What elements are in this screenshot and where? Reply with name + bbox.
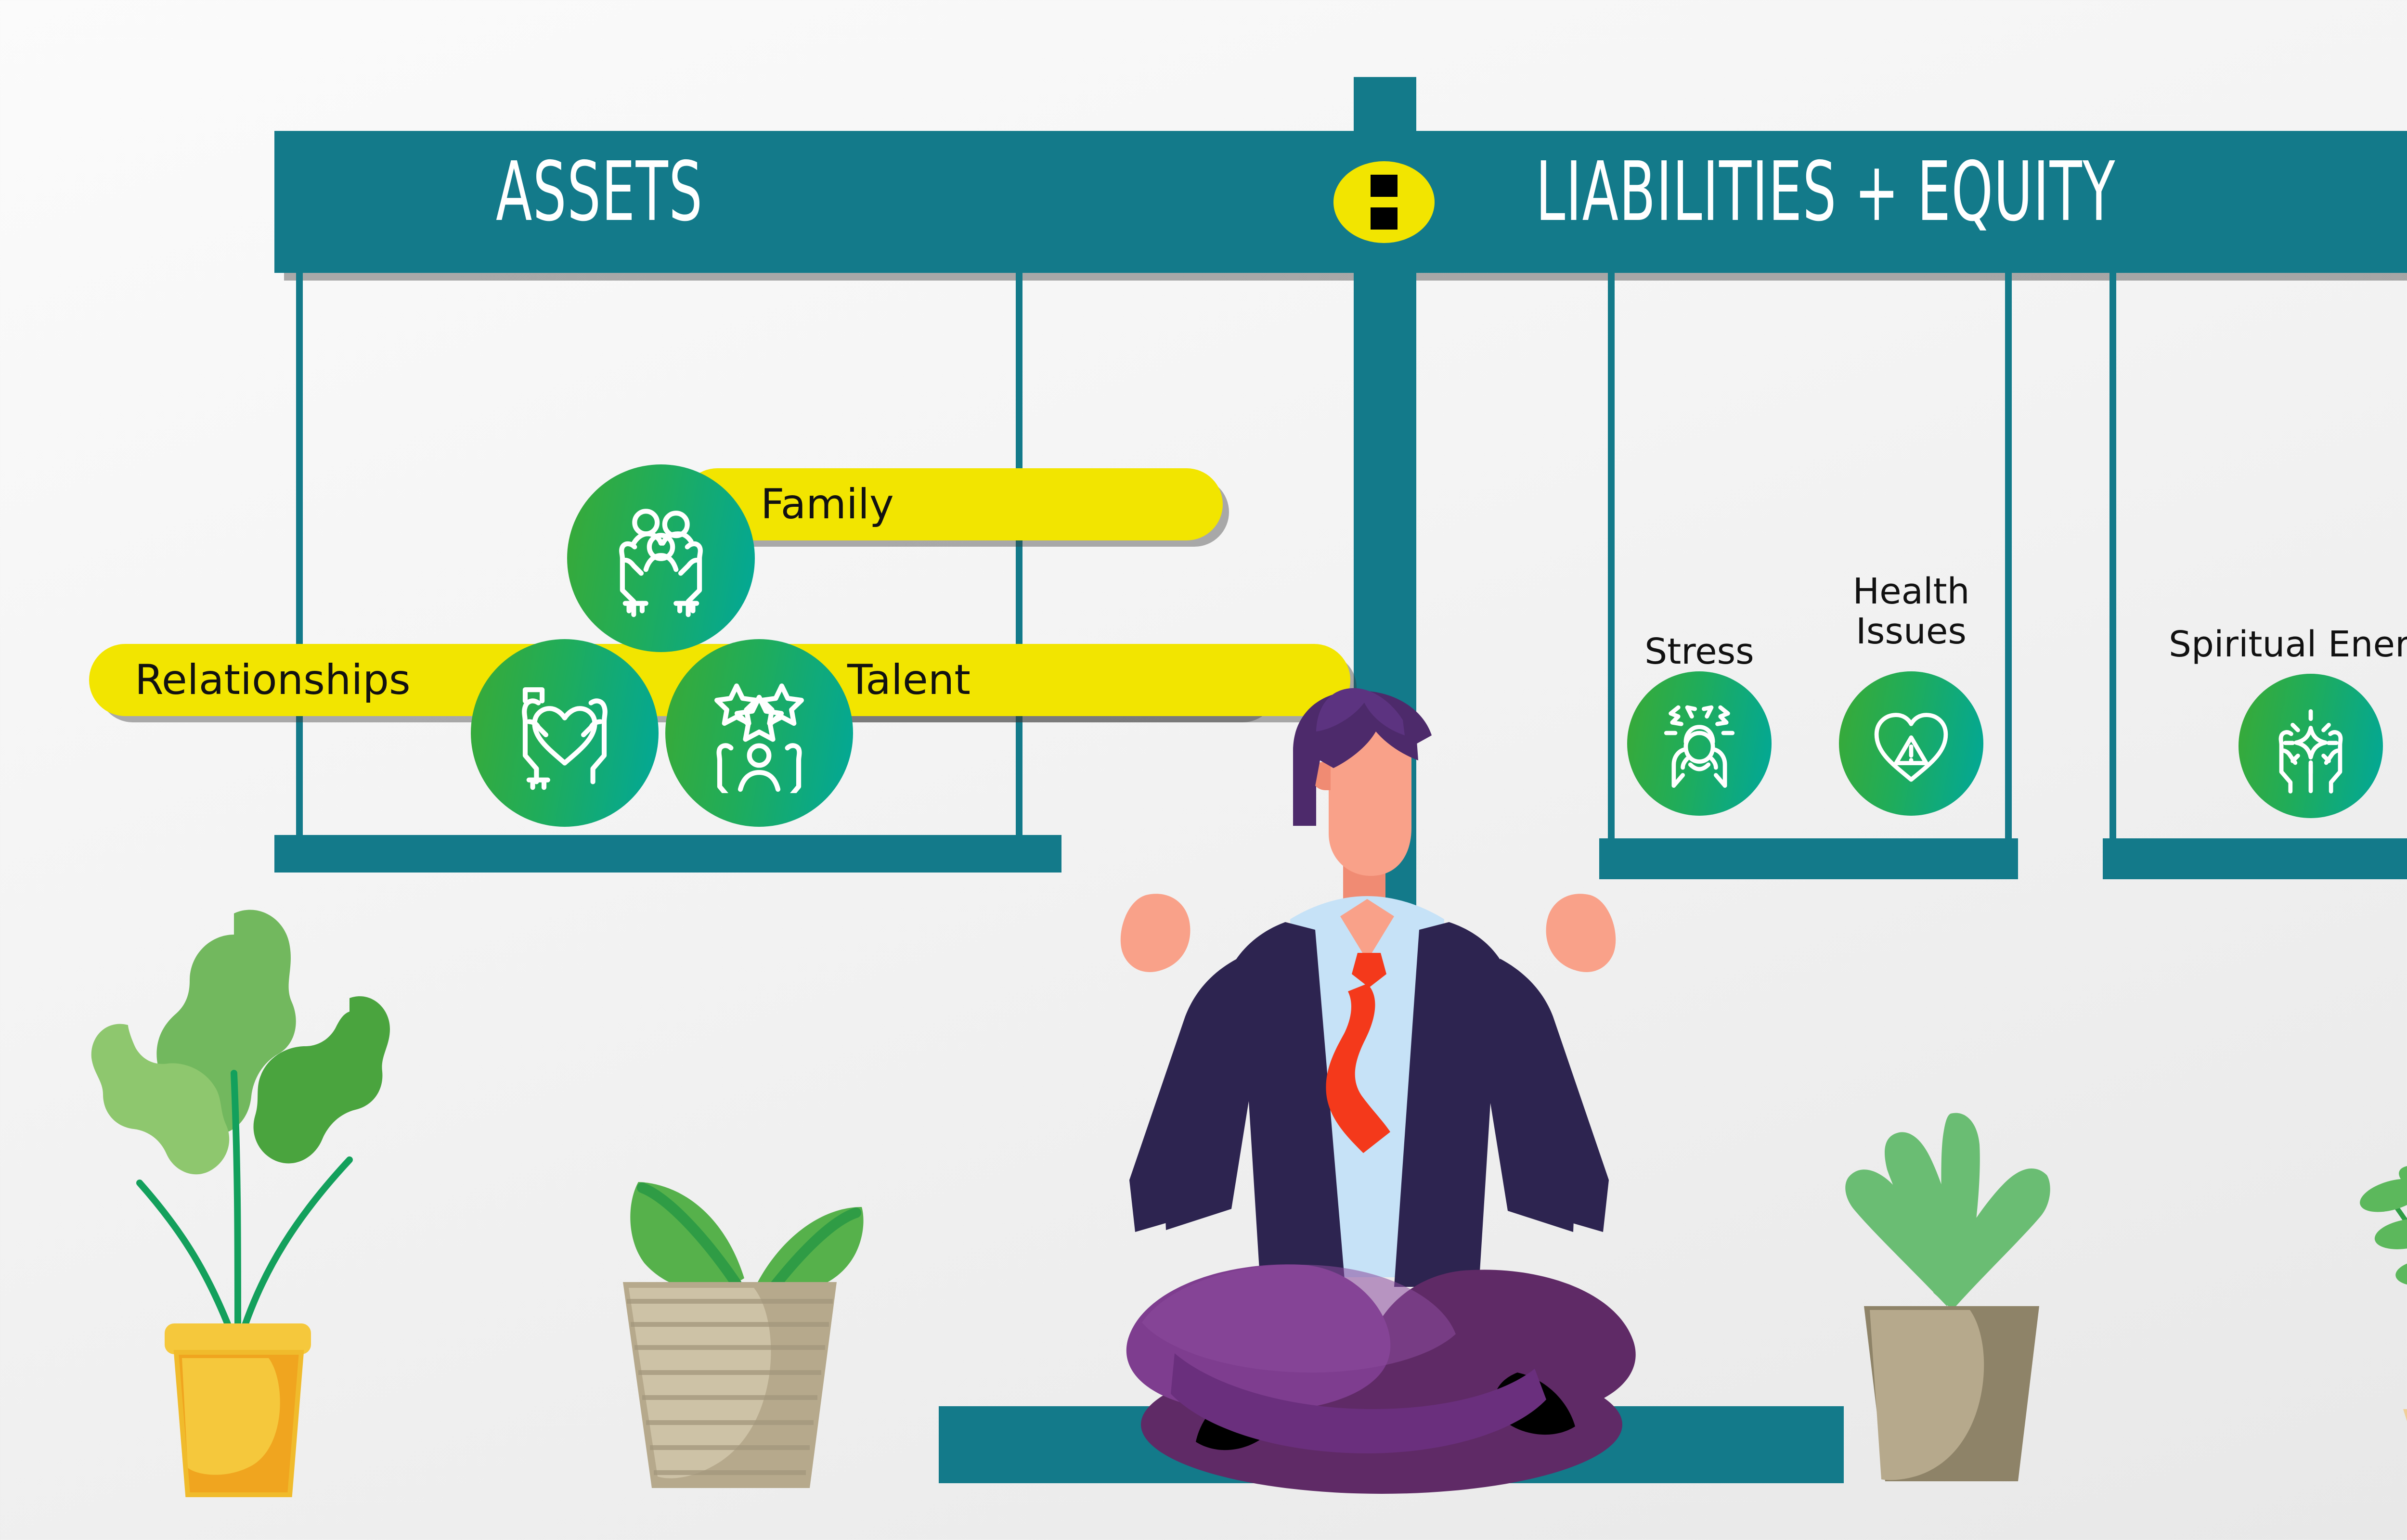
spiky-aloe-plant-illustration (1839, 1092, 2060, 1521)
fiddle-leaf-plant-illustration (63, 900, 414, 1521)
asset-icon-family[interactable] (567, 464, 755, 652)
liability-label-health-issues: Health Issues (1815, 532, 2007, 652)
plant-fiddle-leaf (63, 900, 414, 1521)
heart-in-hands-icon (505, 673, 625, 793)
equity-label-spiritual-energy: Spiritual Energy (2118, 585, 2407, 665)
asset-icon-talent[interactable] (665, 639, 853, 827)
equity-icon-spiritual-energy[interactable] (2239, 674, 2383, 818)
equity-pan (2103, 838, 2407, 879)
asset-label-relationships: Relationships (135, 656, 411, 704)
asset-icon-relationships[interactable] (471, 639, 659, 827)
equals-badge (1333, 161, 1435, 243)
liabilities-equity-title: LIABILITIES + EQUITY (1536, 144, 2407, 240)
meditating-person-illustration (944, 674, 1820, 1501)
liability-label-stress: Stress (1618, 592, 1781, 672)
equals-bar-bottom (1371, 207, 1398, 230)
liability-icon-health-issues[interactable] (1839, 671, 1983, 816)
plant-fern (2349, 1020, 2407, 1521)
assets-title: ASSETS (496, 144, 1189, 240)
equals-bar-top (1371, 175, 1398, 197)
assets-string-left (296, 269, 303, 842)
sparkle-in-hands-icon (2263, 698, 2359, 794)
two-leaf-sprout-plant-illustration (582, 1155, 876, 1521)
asset-label-family: Family (761, 480, 894, 528)
scale-post-top (1354, 77, 1416, 140)
infographic-canvas: ASSETS LIABILITIES + EQUITY Family Relat… (0, 0, 2407, 1540)
fern-plant-illustration (2349, 1020, 2407, 1521)
meditating-businessman (944, 674, 1820, 1501)
plant-two-leaf-sprout (582, 1155, 876, 1521)
family-in-hands-icon (601, 498, 721, 618)
equity-string-left (2109, 269, 2116, 847)
plant-spiky-aloe (1839, 1092, 2060, 1521)
heart-warning-icon (1863, 695, 1959, 792)
stars-in-hands-icon (699, 673, 819, 793)
asset-pill-family[interactable]: Family (681, 468, 1223, 540)
